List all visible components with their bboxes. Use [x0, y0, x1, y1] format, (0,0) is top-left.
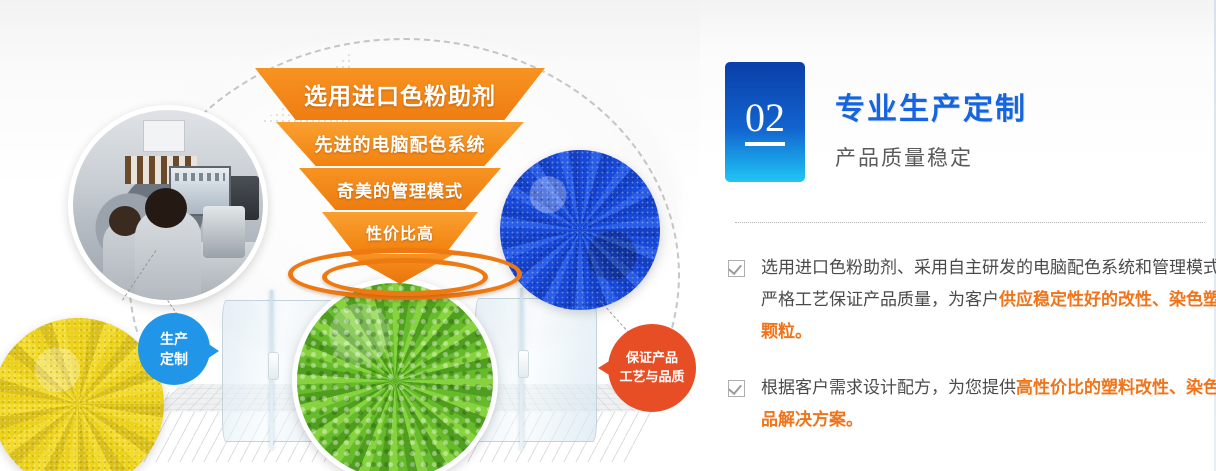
technician-two-head [145, 188, 187, 228]
funnel-layer-4: 性价比高 [322, 212, 478, 252]
funnel-diagram: 选用进口色粉助剂 先进的电脑配色系统 奇美的管理模式 性价比高 [255, 68, 545, 253]
page-title: 专业生产定制 [835, 84, 1027, 128]
bullet-two-line-two: 品解决方案。 [761, 404, 1216, 436]
lab-instrument-light [203, 206, 245, 258]
bullet-one-line-two: 严格工艺保证产品质量，为客户供应稳定性好的改性、染色塑料 [761, 284, 1216, 316]
funnel-layer-2: 先进的电脑配色系统 [276, 122, 524, 166]
page-subtitle: 产品质量稳定 [835, 142, 1027, 172]
funnel-layer-1-label: 选用进口色粉助剂 [304, 77, 496, 111]
funnel-layer-4-label: 性价比高 [366, 220, 434, 244]
bullet-two-highlight-one: 高性价比的塑料改性、染色产 [1016, 378, 1216, 397]
photo-green-pellets [292, 278, 498, 471]
promo-banner: 选用进口色粉助剂 先进的电脑配色系统 奇美的管理模式 性价比高 生产 定制 保证… [0, 0, 1216, 471]
badge-orange-line-2: 工艺与品质 [619, 368, 684, 387]
funnel-layer-2-label: 先进的电脑配色系统 [315, 131, 486, 157]
check-icon [728, 260, 745, 277]
badge-production-custom: 生产 定制 [138, 313, 210, 385]
check-icon [728, 380, 745, 397]
badge-quality-guarantee: 保证产品 工艺与品质 [608, 324, 696, 412]
content-panel: 02 专业生产定制 产品质量稳定 选用进口色粉助剂、采用自主研发的电脑配色系统和… [700, 0, 1216, 471]
list-item: 根据客户需求设计配方，为您提供高性价比的塑料改性、染色产 品解决方案。 [728, 372, 1216, 436]
bullet-one-line-one: 选用进口色粉助剂、采用自主研发的电脑配色系统和管理模式， [761, 252, 1216, 284]
header-divider [735, 222, 1205, 223]
funnel-layer-3-label: 奇美的管理模式 [337, 177, 463, 202]
section-titles: 专业生产定制 产品质量稳定 [835, 62, 1027, 172]
badge-blue-line-2: 定制 [160, 349, 188, 369]
bullet-text-one: 选用进口色粉助剂、采用自主研发的电脑配色系统和管理模式， 严格工艺保证产品质量，… [761, 252, 1216, 348]
orange-ring-inner [322, 258, 488, 296]
glass-handle-right [518, 350, 529, 378]
section-header: 02 专业生产定制 产品质量稳定 [725, 62, 1027, 182]
lab-document [143, 120, 185, 152]
illustration-panel: 选用进口色粉助剂 先进的电脑配色系统 奇美的管理模式 性价比高 生产 定制 保证… [0, 0, 700, 471]
bullet-text-two: 根据客户需求设计配方，为您提供高性价比的塑料改性、染色产 品解决方案。 [761, 372, 1216, 436]
bullet-two-line-one: 根据客户需求设计配方，为您提供高性价比的塑料改性、染色产 [761, 372, 1216, 404]
section-number-badge: 02 [725, 62, 805, 182]
bullet-one-plain-two: 严格工艺保证产品质量，为客户 [761, 290, 999, 309]
bullet-two-plain-one: 根据客户需求设计配方，为您提供 [761, 378, 1016, 397]
glass-handle-left [268, 352, 279, 380]
bullet-list: 选用进口色粉助剂、采用自主研发的电脑配色系统和管理模式， 严格工艺保证产品质量，… [728, 252, 1216, 460]
funnel-layer-3: 奇美的管理模式 [299, 168, 501, 210]
photo-lab-technicians [68, 105, 268, 305]
bullet-one-line-three: 颗粒。 [761, 316, 1216, 348]
badge-blue-line-1: 生产 [160, 329, 188, 349]
funnel-layer-1: 选用进口色粉助剂 [255, 68, 545, 120]
section-number: 02 [745, 98, 785, 146]
badge-orange-line-1: 保证产品 [626, 349, 678, 368]
bullet-one-highlight-two: 供应稳定性好的改性、染色塑料 [999, 290, 1216, 309]
list-item: 选用进口色粉助剂、采用自主研发的电脑配色系统和管理模式， 严格工艺保证产品质量，… [728, 252, 1216, 348]
